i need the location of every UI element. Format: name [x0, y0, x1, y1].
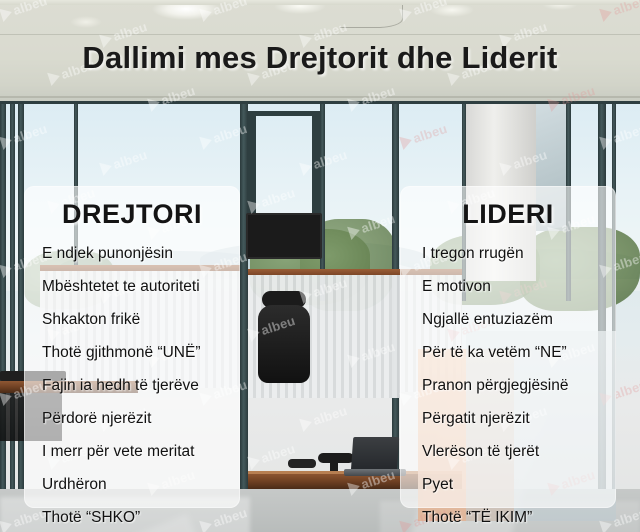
infographic-image: albeualbeualbeualbeualbeualbeualbeualbeu…	[0, 0, 640, 532]
list-item: Fajin ia hedh të tjerëve	[42, 378, 240, 394]
list-item: Përgatit njerëzit	[422, 411, 616, 427]
transom-line	[0, 101, 640, 104]
panel-drejtori: DREJTORI E ndjek punonjësin Mbështetet t…	[24, 186, 240, 508]
list-item: Thotë “TË IKIM”	[422, 510, 616, 526]
window-mullion	[10, 101, 15, 532]
panel-right-list: I tregon rrugën E motivon Ngjallë entuzi…	[400, 246, 616, 526]
ceiling-line	[0, 34, 640, 35]
panel-lideri: LIDERI I tregon rrugën E motivon Ngjallë…	[400, 186, 616, 508]
chair-backrest	[258, 305, 310, 383]
list-item: Pyet	[422, 477, 616, 493]
desk-phone	[288, 459, 316, 468]
list-item: I merr për vete meritat	[42, 444, 240, 460]
window-mullion	[0, 101, 6, 532]
list-item: Thotë “SHKO”	[42, 510, 240, 526]
wall-monitor	[246, 213, 322, 259]
list-item: E ndjek punonjësin	[42, 246, 240, 262]
list-item: Ngjallë entuziazëm	[422, 312, 616, 328]
list-item: Vlerëson të tjerët	[422, 444, 616, 460]
door-frame	[312, 111, 320, 216]
list-item: Urdhëron	[42, 477, 240, 493]
list-item: Thotë gjithmonë “UNË”	[42, 345, 240, 361]
list-item: E motivon	[422, 279, 616, 295]
page-title: Dallimi mes Drejtorit dhe Liderit	[0, 40, 640, 76]
window-mullion	[240, 101, 248, 532]
panel-right-heading: LIDERI	[400, 199, 616, 230]
ceiling-strip	[0, 0, 640, 5]
list-item: Për të ka vetëm “NE”	[422, 345, 616, 361]
laptop-base	[344, 469, 406, 476]
ceiling-line	[0, 96, 640, 98]
door-frame	[248, 111, 320, 116]
list-item: I tregon rrugën	[422, 246, 616, 262]
panel-left-heading: DREJTORI	[24, 199, 240, 230]
list-item: Pranon përgjegjësinë	[422, 378, 616, 394]
list-item: Përdorë njerëzit	[42, 411, 240, 427]
list-item: Mbështetet te autoriteti	[42, 279, 240, 295]
panel-left-list: E ndjek punonjësin Mbështetet te autorit…	[24, 246, 240, 526]
ceiling-cable	[340, 5, 403, 28]
door-frame	[248, 111, 256, 216]
list-item: Shkakton frikë	[42, 312, 240, 328]
laptop-screen	[351, 437, 400, 473]
